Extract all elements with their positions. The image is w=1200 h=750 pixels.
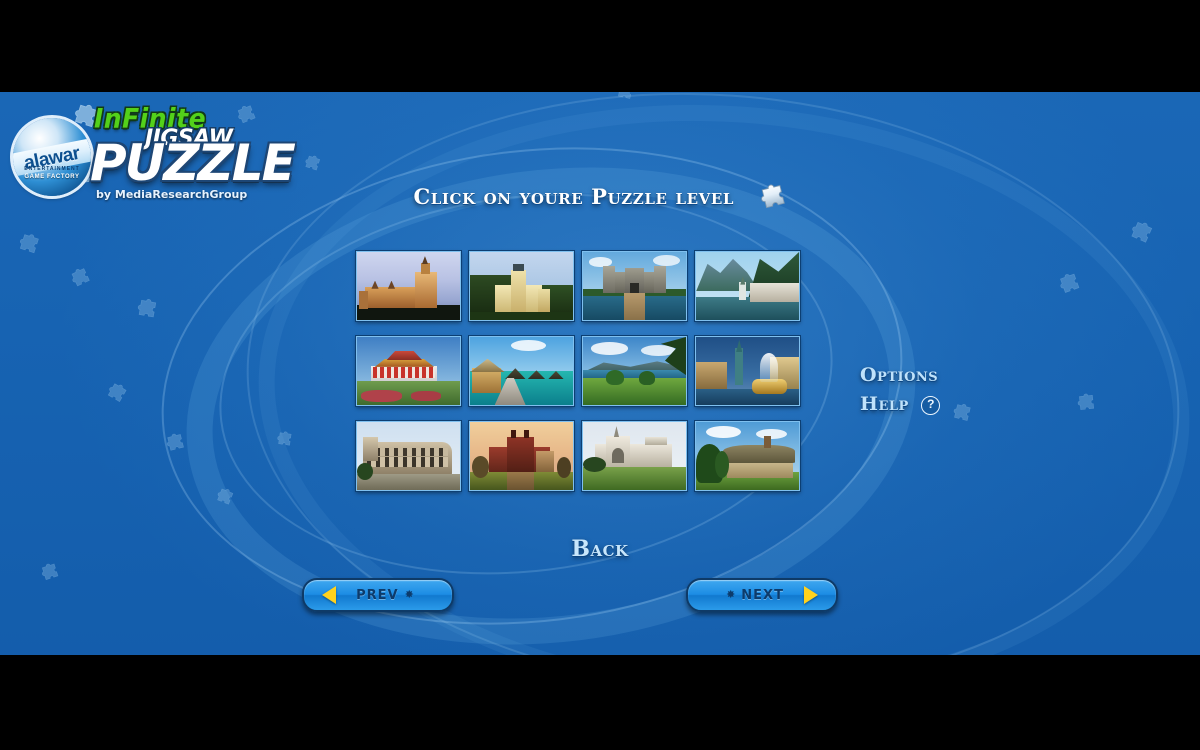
prev-button[interactable]: PREV ✸ [302, 578, 454, 612]
page-title-text: Click on youre Puzzle level [413, 184, 734, 209]
puzzle-thumbnail-city-fountain[interactable] [695, 336, 800, 406]
next-button[interactable]: ✸ NEXT [686, 578, 838, 612]
puzzle-thumbnail-brick-manor[interactable] [469, 421, 574, 491]
badge-subtitle-entertainment: ENTERTAINMENT [13, 166, 91, 172]
thumbnail-image [583, 252, 686, 320]
thumbnail-image [357, 422, 460, 490]
options-menu-item[interactable]: Options [860, 364, 940, 386]
thumbnail-image [357, 337, 460, 405]
background-puzzle-piece [1126, 216, 1156, 246]
puzzle-thumbnail-tropical-bay[interactable] [582, 336, 687, 406]
background-puzzle-piece [163, 430, 187, 454]
thumbnail-image [583, 422, 686, 490]
help-menu-item[interactable]: Help [860, 393, 909, 415]
puzzle-thumbnail-gothic-cathedral[interactable] [582, 421, 687, 491]
background-puzzle-piece [103, 378, 130, 405]
puzzle-thumbnail-alcazar-castle[interactable] [356, 251, 461, 321]
help-menu-row: Help ? [860, 393, 940, 415]
next-button-label: NEXT [741, 588, 784, 603]
background-puzzle-piece [1055, 269, 1083, 297]
puzzle-piece-icon [755, 179, 790, 218]
background-puzzle-piece [614, 92, 635, 102]
background-puzzle-piece [15, 229, 43, 257]
prev-button-label: PREV [356, 588, 398, 603]
thumbnail-image [470, 252, 573, 320]
thumbnail-image [696, 337, 799, 405]
thumbnail-image [696, 252, 799, 320]
game-stage: alawar ENTERTAINMENT GAME FACTORY InFini… [0, 92, 1200, 655]
thumbnail-image [470, 337, 573, 405]
letterbox-bottom [0, 655, 1200, 750]
thumbnail-image [357, 252, 460, 320]
background-puzzle-piece [213, 484, 236, 507]
background-puzzle-piece [302, 152, 323, 173]
thumbnail-image [583, 337, 686, 405]
left-triangle-icon [322, 586, 336, 604]
puzzle-thumbnail-overwater-bungalows[interactable] [469, 336, 574, 406]
background-puzzle-piece [275, 429, 294, 448]
question-mark-circle-icon[interactable]: ? [921, 396, 940, 415]
back-row: Back [0, 536, 1200, 562]
right-triangle-icon [804, 586, 818, 604]
puzzle-thumbnail-chinese-temple[interactable] [356, 336, 461, 406]
page-title: Click on youre Puzzle level [0, 180, 1200, 213]
background-puzzle-piece [950, 400, 974, 424]
thumbnail-image [470, 422, 573, 490]
letterbox-top [0, 0, 1200, 92]
puzzle-thumbnail-yellow-castle[interactable] [469, 251, 574, 321]
thumbnail-image [696, 422, 799, 490]
puzzle-thumbnail-thatched-cottage[interactable] [695, 421, 800, 491]
game-screen: alawar ENTERTAINMENT GAME FACTORY InFini… [0, 0, 1200, 750]
puzzle-thumbnail-colosseum[interactable] [356, 421, 461, 491]
side-menu: Options Help ? [860, 364, 940, 415]
puzzle-thumbnail-lakeside-village[interactable] [695, 251, 800, 321]
background-puzzle-piece [67, 264, 94, 291]
puzzle-level-grid [356, 251, 816, 489]
background-puzzle-piece [38, 560, 62, 584]
back-button[interactable]: Back [571, 536, 628, 562]
background-puzzle-piece [1075, 391, 1097, 413]
prev-button-piece-icon: ✸ [405, 590, 414, 601]
background-puzzle-piece [134, 295, 159, 320]
puzzle-thumbnail-moated-castle[interactable] [582, 251, 687, 321]
next-button-piece-icon: ✸ [726, 590, 735, 601]
